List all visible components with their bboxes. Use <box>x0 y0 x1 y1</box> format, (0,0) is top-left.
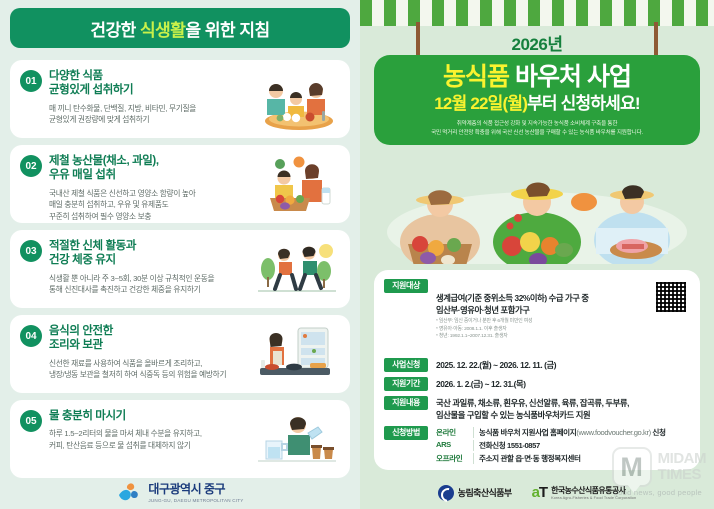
government-emblem-icon <box>438 485 454 501</box>
family-meal-illustration <box>254 69 340 130</box>
info-row-eligibility: 지원대상 생계급여(기준 중위소득 32%이하) 수급 가구 중 임산부·영유아… <box>384 279 690 353</box>
awning-scallop-decoration <box>360 18 714 30</box>
apply-methods-grid: 온라인 농식품 바우처 지원사업 홈페이지(www.foodvoucher.go… <box>436 426 666 464</box>
eligibility-text: 생계급여(기준 중위소득 32%이하) 수급 가구 중 임산부·영유아·청년 포… <box>436 293 589 315</box>
apply-method-key-online: 온라인 <box>436 427 474 438</box>
left-title-highlight: 식생활 <box>140 21 185 40</box>
left-footer-logo: 대구광역시 중구 JUNG-GU, DAEGU METROPOLITAN CIT… <box>0 480 360 503</box>
guide-card-01: 01 다양한 식품 균형있게 섭취하기 매 끼니 탄수화물, 단백질, 지방, … <box>10 60 350 138</box>
right-panel-voucher-program: 2026년 농식품 바우처 사업 12월 22일(월)부터 신청하세요! 취약계… <box>360 0 714 509</box>
headline-box: 농식품 바우처 사업 12월 22일(월)부터 신청하세요! 취약계층의 식품 … <box>374 55 700 145</box>
guide-body: 하루 1.5~2리터의 물을 마셔 체내 수분을 유지하고, 커피, 탄산음료 … <box>49 428 254 451</box>
info-row-value: 생계급여(기준 중위소득 32%이하) 수급 가구 중 임산부·영유아·청년 포… <box>436 279 690 353</box>
at-corporation-logo: aT 한국농수산식품유통공사 Korea Agro-Fisheries & Fo… <box>532 484 637 501</box>
info-row-value: 2026. 1. 2.(금) ~ 12. 31.(목) <box>436 377 690 391</box>
right-footer-logos: 농림축산식품부 aT 한국농수산식품유통공사 Korea Agro-Fisher… <box>360 484 714 501</box>
guide-heading: 제철 농산물(채소, 과일), 우유 매일 섭취 <box>49 154 254 183</box>
guide-body: 신선한 재료를 사용하여 식품을 올바르게 조리하고, 냉장/냉동 보관을 철저… <box>49 358 254 381</box>
guide-heading: 물 충분히 마시기 <box>49 409 254 423</box>
jung-gu-logo-text: 대구광역시 중구 JUNG-GU, DAEGU METROPOLITAN CIT… <box>148 480 243 503</box>
apply-method-value-online: 농식품 바우처 지원사업 홈페이지(www.foodvoucher.go.kr)… <box>479 427 666 438</box>
running-couple-illustration <box>254 239 340 300</box>
headline-date-highlight: 12월 22일(월) <box>434 94 527 113</box>
guide-text-block: 물 충분히 마시기 하루 1.5~2리터의 물을 마셔 체내 수분을 유지하고,… <box>49 409 254 470</box>
guide-card-04: 04 음식의 안전한 조리와 보관 신선한 재료를 사용하여 식품을 올바르게 … <box>10 315 350 393</box>
guide-number-badge: 05 <box>20 410 42 432</box>
guide-heading: 다양한 식품 균형있게 섭취하기 <box>49 69 254 98</box>
poster-root: 건강한 식생활을 위한 지침 01 다양한 식품 균형있게 섭취하기 매 끼니 … <box>0 0 714 509</box>
info-row-how-to-apply: 신청방법 온라인 농식품 바우처 지원사업 홈페이지(www.foodvouch… <box>384 426 690 464</box>
at-logo-icon: aT <box>532 484 548 501</box>
headline-primary: 농식품 바우처 사업 <box>380 63 694 91</box>
info-row-label: 지원대상 <box>384 279 428 293</box>
man-drinking-water-illustration <box>254 409 340 470</box>
apply-online-tail: 신청 <box>651 428 666 437</box>
apply-method-key-offline: 오프라인 <box>436 453 474 464</box>
three-people-holding-fresh-produce-illustration <box>360 172 714 270</box>
info-row-label: 지원기간 <box>384 377 428 391</box>
headline-primary-rest: 바우처 사업 <box>509 63 631 91</box>
info-row-support-content: 지원내용 국산 과일류, 채소류, 흰우유, 신선알류, 육류, 잡곡류, 두부… <box>384 396 690 421</box>
mother-child-produce-basket-illustration <box>254 154 340 215</box>
guide-card-03: 03 적절한 신체 활동과 건강 체중 유지 식생활 뿐 아니라 주 3~5회,… <box>10 230 350 308</box>
cooking-refrigerator-illustration <box>254 324 340 385</box>
guide-text-block: 음식의 안전한 조리와 보관 신선한 재료를 사용하여 식품을 올바르게 조리하… <box>49 324 254 385</box>
guide-text-block: 적절한 신체 활동과 건강 체중 유지 식생활 뿐 아니라 주 3~5회, 30… <box>49 239 254 300</box>
guide-body: 국내산 제철 식품은 신선하고 영양소 함량이 높아 매일 충분히 섭취하고, … <box>49 188 254 223</box>
headline-secondary-rest: 부터 신청하세요! <box>527 94 640 113</box>
jung-gu-name-en: JUNG-GU, DAEGU METROPOLITAN CITY <box>148 498 243 503</box>
headline-primary-highlight: 농식품 <box>443 63 509 91</box>
at-name-kr: 한국농수산식품유통공사 <box>551 485 636 496</box>
headline-subtext: 취약계층의 식품 접근성 강화 및 지속가능한 농식품 소비체계 구축을 통한 … <box>380 120 694 138</box>
program-info-card: 지원대상 생계급여(기준 중위소득 32%이하) 수급 가구 중 임산부·영유아… <box>374 270 700 470</box>
ministry-name: 농림축산식품부 <box>458 486 512 499</box>
guide-number-badge: 04 <box>20 325 42 347</box>
ministry-logo: 농림축산식품부 <box>438 485 512 501</box>
info-row-label: 신청방법 <box>384 426 428 440</box>
left-panel-healthy-diet-guidelines: 건강한 식생활을 위한 지침 01 다양한 식품 균형있게 섭취하기 매 끼니 … <box>0 0 360 509</box>
at-logo-text: 한국농수산식품유통공사 Korea Agro-Fisheries & Food … <box>551 485 636 500</box>
guide-body: 매 끼니 탄수화물, 단백질, 지방, 비타민, 무기질을 균형있게 권장량에 … <box>49 103 254 126</box>
info-row-support-period: 지원기간 2026. 1. 2.(금) ~ 12. 31.(목) <box>384 377 690 391</box>
guide-number-badge: 01 <box>20 70 42 92</box>
apply-method-value-ars: 전화신청 1551-0857 <box>479 440 666 451</box>
guide-text-block: 제철 농산물(채소, 과일), 우유 매일 섭취 국내산 제철 식품은 신선하고… <box>49 154 254 215</box>
qr-code-icon[interactable] <box>654 280 688 314</box>
info-row-value: 국산 과일류, 채소류, 흰우유, 신선알류, 육류, 잡곡류, 두부류, 임산… <box>436 396 690 421</box>
left-title-suffix: 을 위한 지침 <box>185 21 269 40</box>
guide-card-05: 05 물 충분히 마시기 하루 1.5~2리터의 물을 마셔 체내 수분을 유지… <box>10 400 350 478</box>
info-row-value: 2025. 12. 22.(월) ~ 2026. 12. 11. (금) <box>436 358 690 372</box>
guide-number-badge: 02 <box>20 155 42 177</box>
info-row-label: 지원내용 <box>384 396 428 410</box>
guide-text-block: 다양한 식품 균형있게 섭취하기 매 끼니 탄수화물, 단백질, 지방, 비타민… <box>49 69 254 130</box>
left-panel-title-bar: 건강한 식생활을 위한 지침 <box>10 8 350 48</box>
jung-gu-emblem-icon <box>116 481 142 503</box>
headline-secondary: 12월 22일(월)부터 신청하세요! <box>380 94 694 114</box>
info-row-label: 사업신청 <box>384 358 428 372</box>
guide-heading: 적절한 신체 활동과 건강 체중 유지 <box>49 239 254 268</box>
guide-card-02: 02 제철 농산물(채소, 과일), 우유 매일 섭취 국내산 제철 식품은 신… <box>10 145 350 223</box>
left-panel-title: 건강한 식생활을 위한 지침 <box>90 16 269 41</box>
at-name-en: Korea Agro-Fisheries & Food Trade Corpor… <box>551 496 636 500</box>
apply-online-text: 농식품 바우처 지원사업 홈페이지 <box>479 428 576 437</box>
eligibility-footnotes: * 임산부: 임신 중이거나 분만 후 6개월 미만인 여성 * 영유아·아동:… <box>436 318 690 341</box>
guide-body: 식생활 뿐 아니라 주 3~5회, 30분 이상 규칙적인 운동을 통해 신진대… <box>49 273 254 296</box>
program-year: 2026년 <box>360 30 714 55</box>
at-letter-a: a <box>532 484 539 501</box>
guide-number-badge: 03 <box>20 240 42 262</box>
info-row-application-period: 사업신청 2025. 12. 22.(월) ~ 2026. 12. 11. (금… <box>384 358 690 372</box>
guide-heading: 음식의 안전한 조리와 보관 <box>49 324 254 353</box>
apply-method-key-ars: ARS <box>436 440 474 451</box>
apply-method-value-offline: 주소지 관할 읍·면·동 행정복지센터 <box>479 453 666 464</box>
jung-gu-name-kr: 대구광역시 중구 <box>148 480 243 497</box>
at-letter-t: T <box>539 484 547 501</box>
apply-online-url[interactable]: (www.foodvoucher.go.kr) <box>576 428 650 437</box>
left-title-prefix: 건강한 <box>90 21 140 40</box>
